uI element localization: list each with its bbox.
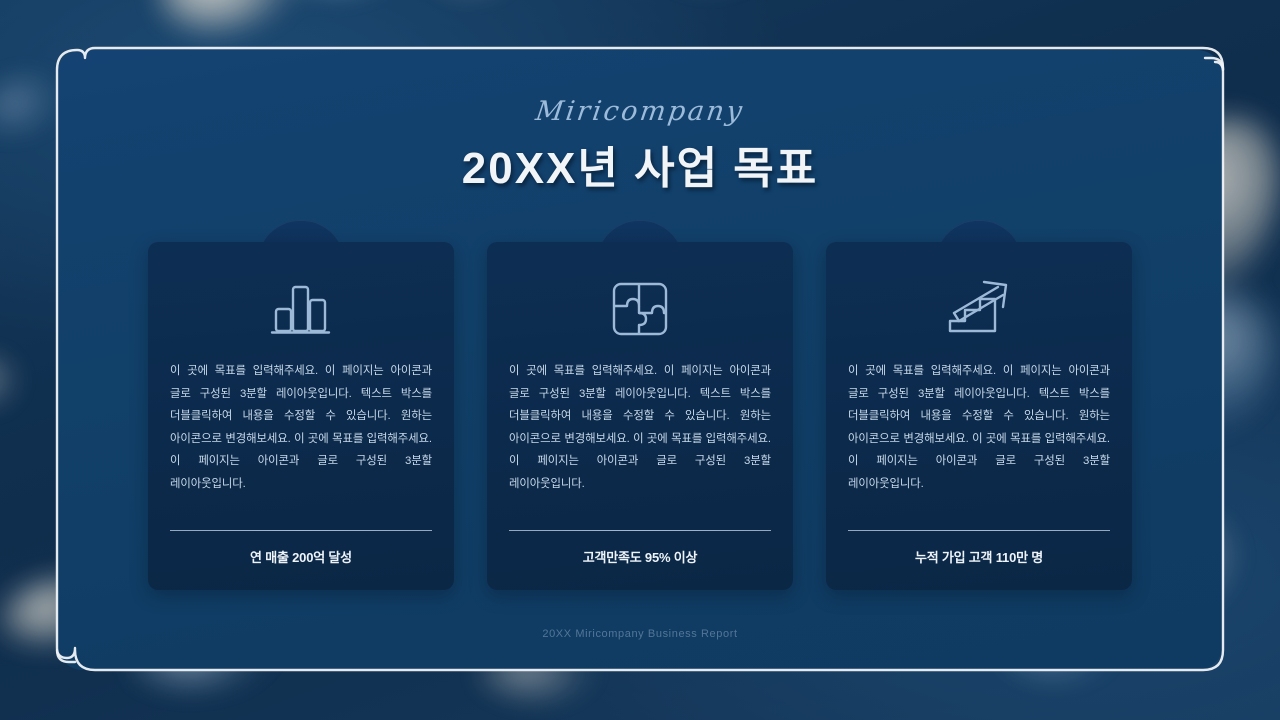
- bar-chart-icon: [270, 280, 332, 338]
- card-footer-2: 고객만족도 95% 이상: [509, 530, 771, 566]
- card-goal-label-2: 고객만족도 95% 이상: [509, 547, 771, 566]
- card-footer-1: 연 매출 200억 달성: [170, 530, 432, 566]
- card-icon-slot-2: [509, 270, 771, 348]
- puzzle-icon: [610, 280, 670, 338]
- goal-card-1[interactable]: 이 곳에 목표를 입력해주세요. 이 페이지는 아이콘과 글로 구성된 3분할 …: [148, 242, 454, 590]
- card-footer-3: 누적 가입 고객 110만 명: [848, 530, 1110, 566]
- card-divider: [509, 530, 771, 531]
- growth-stairs-arrow-icon: [946, 280, 1012, 338]
- goal-card-3[interactable]: 이 곳에 목표를 입력해주세요. 이 페이지는 아이콘과 글로 구성된 3분할 …: [826, 242, 1132, 590]
- card-body-text-2: 이 곳에 목표를 입력해주세요. 이 페이지는 아이콘과 글로 구성된 3분할 …: [509, 360, 771, 496]
- card-body-text-3: 이 곳에 목표를 입력해주세요. 이 페이지는 아이콘과 글로 구성된 3분할 …: [848, 360, 1110, 496]
- card-divider: [170, 530, 432, 531]
- goal-card-2[interactable]: 이 곳에 목표를 입력해주세요. 이 페이지는 아이콘과 글로 구성된 3분할 …: [487, 242, 793, 590]
- script-subtitle: Miricompany: [0, 96, 1280, 127]
- card-goal-label-1: 연 매출 200억 달성: [170, 547, 432, 566]
- card-goal-label-3: 누적 가입 고객 110만 명: [848, 547, 1110, 566]
- page-title: 20XX년 사업 목표: [0, 132, 1280, 196]
- presentation-slide: Miricompany 20XX년 사업 목표 01 이 곳에 목표를 입력해주…: [0, 0, 1280, 720]
- card-body-text-1: 이 곳에 목표를 입력해주세요. 이 페이지는 아이콘과 글로 구성된 3분할 …: [170, 360, 432, 496]
- card-icon-slot-3: [848, 270, 1110, 348]
- card-icon-slot-1: [170, 270, 432, 348]
- card-divider: [848, 530, 1110, 531]
- slide-footer-text: 20XX Miricompany Business Report: [0, 628, 1280, 640]
